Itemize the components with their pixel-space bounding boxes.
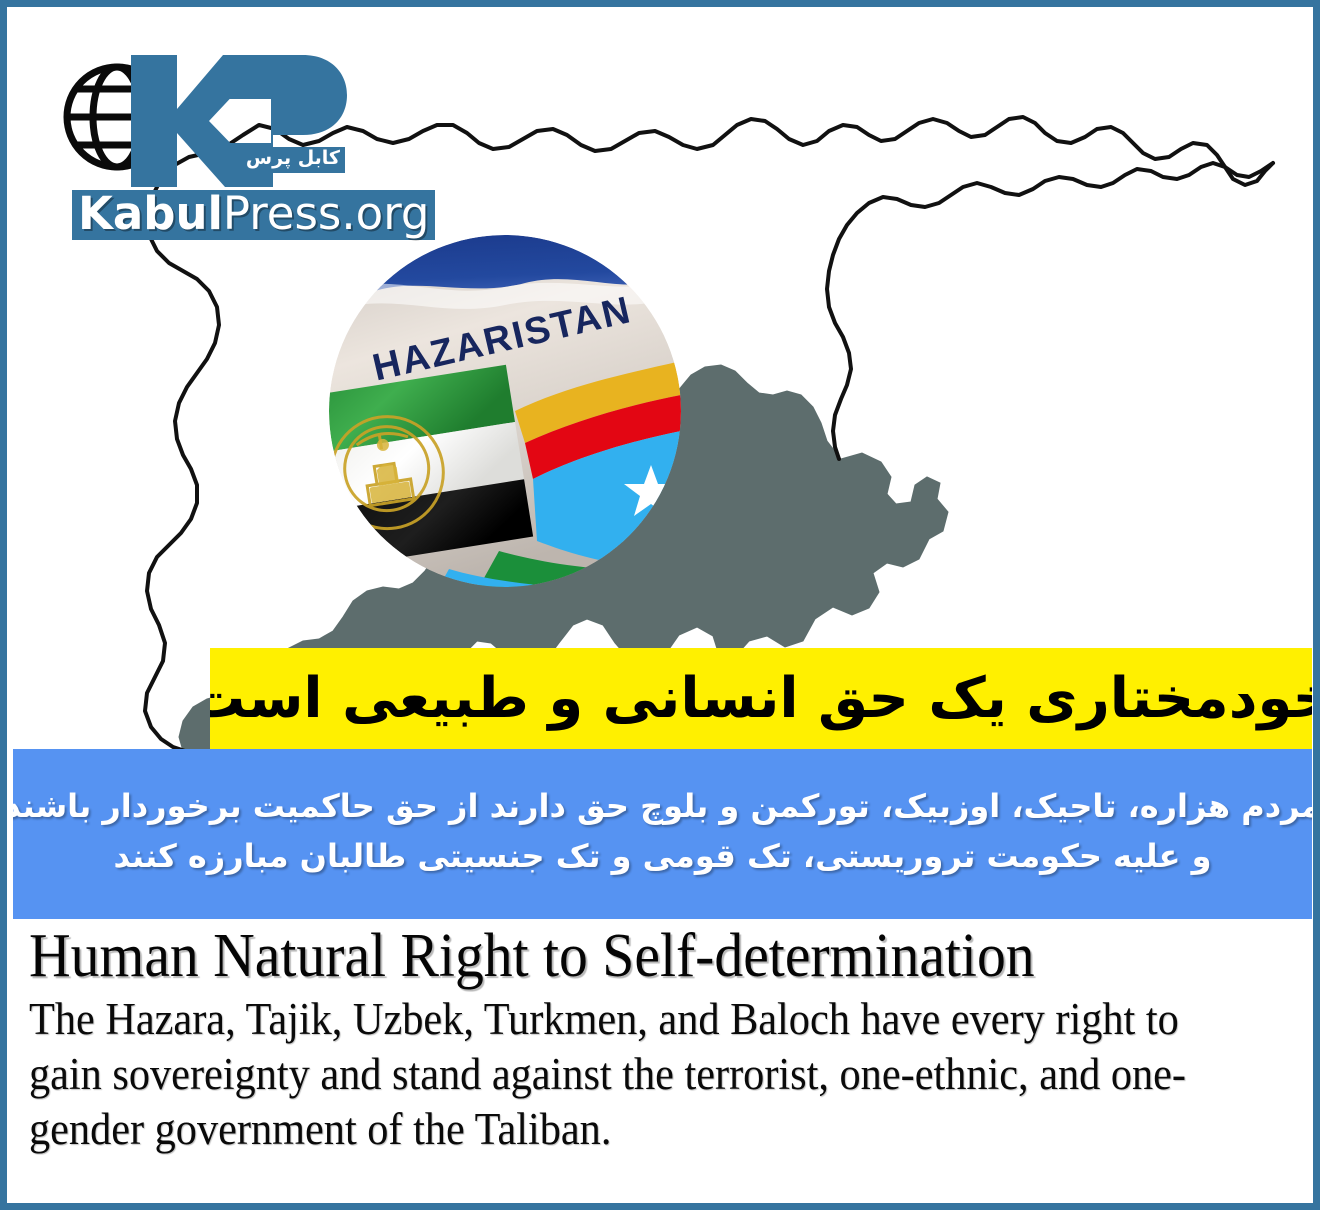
- english-heading: Human Natural Right to Self-determinatio…: [29, 925, 1218, 988]
- logo-farsi-name: کابل پرس: [241, 147, 345, 173]
- afghanistan-flag: [329, 365, 533, 570]
- logo-wordmark: KabulPress.org: [72, 190, 435, 240]
- site-logo[interactable]: کابل پرس KabulPress.org: [59, 47, 349, 237]
- poster-canvas: کابل پرس KabulPress.org: [0, 0, 1320, 1210]
- hazaristan-flags-circle: HAZARISTAN: [329, 235, 681, 587]
- map-outline-west: [145, 183, 219, 811]
- logo-wordmark-regular: Press.org: [223, 187, 430, 240]
- yellow-banner-text: خودمختاری یک حق انسانی و طبیعی است: [210, 671, 1312, 727]
- blue-banner: مردم هزاره، تاجیک، اوزبیک، تورکمن و بلوچ…: [13, 749, 1312, 919]
- english-body: The Hazara, Tajik, Uzbek, Turkmen, and B…: [29, 992, 1230, 1157]
- logo-wordmark-bold: Kabul: [78, 187, 223, 240]
- english-text-block: Human Natural Right to Self-determinatio…: [29, 925, 1307, 1157]
- blue-banner-line-1: مردم هزاره، تاجیک، اوزبیک، تورکمن و بلوچ…: [13, 782, 1312, 832]
- yellow-banner: خودمختاری یک حق انسانی و طبیعی است: [210, 648, 1312, 749]
- blue-banner-line-2: و علیه حکومت تروریستی، تک قومی و تک جنسی…: [114, 832, 1212, 882]
- map-outline-east: [827, 163, 1273, 459]
